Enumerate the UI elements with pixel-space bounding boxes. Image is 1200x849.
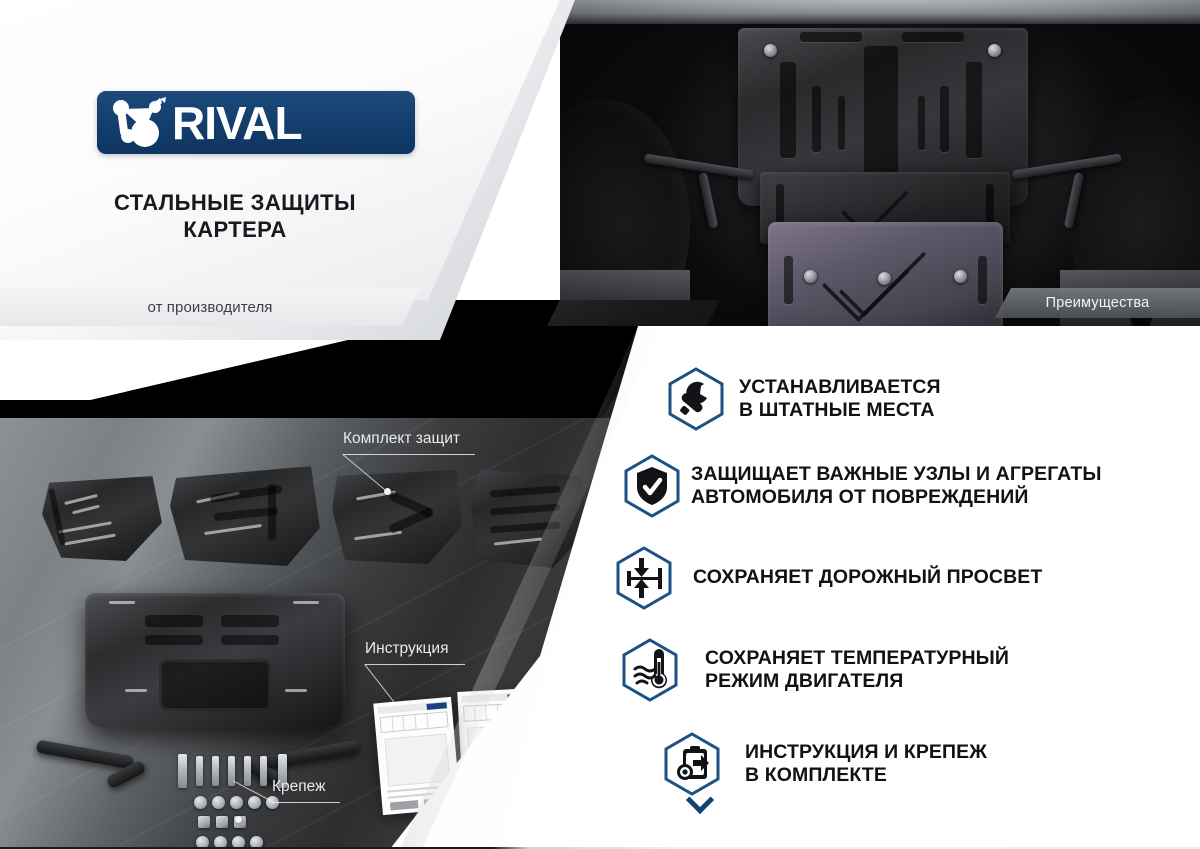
bracket-left (36, 740, 135, 770)
ground-clearance-icon (615, 546, 673, 610)
advantage-install-line1: УСТАНАВЛИВАЕТСЯ (739, 376, 941, 399)
main-engine-skid-plate (85, 593, 345, 728)
hardware-bolt-2 (212, 756, 219, 786)
callout-hardware-rule (272, 802, 340, 803)
advantage-text-install: УСТАНАВЛИВАЕТСЯ В ШТАТНЫЕ МЕСТА (739, 376, 941, 423)
skid-plate-1 (42, 476, 162, 561)
advantage-item-protect: ЗАЩИЩАЕТ ВАЖНЫЕ УЗЛЫ И АГРЕГАТЫ АВТОМОБИ… (623, 438, 1200, 534)
callout-manual-leader (364, 664, 394, 702)
advantage-item-install: УСТАНАВЛИВАЕТСЯ В ШТАТНЫЕ МЕСТА (667, 360, 1200, 438)
callout-kit-dot (384, 488, 391, 495)
advantage-manual-line1: ИНСТРУКЦИЯ И КРЕПЕЖ (745, 741, 987, 764)
tagline-bar: от производителя (0, 288, 420, 326)
page-title-line1: СТАЛЬНЫЕ ЗАЩИТЫ (0, 190, 470, 217)
hardware-spacer-left (178, 754, 187, 788)
hardware-washer-1 (194, 796, 207, 809)
callout-hardware-dot (235, 816, 242, 823)
callout-hardware-label: Крепеж (272, 778, 325, 796)
advantage-item-clearance: СОХРАНЯЕТ ДОРОЖНЫЙ ПРОСВЕТ (615, 534, 1200, 622)
advantage-protect-line1: ЗАЩИЩАЕТ ВАЖНЫЕ УЗЛЫ И АГРЕГАТЫ (691, 463, 1102, 486)
wrench-icon (667, 367, 725, 431)
callout-kit-rule (343, 454, 475, 455)
advantage-item-temperature: СОХРАНЯЕТ ТЕМПЕРАТУРНЫЙ РЕЖИМ ДВИГАТЕЛЯ (621, 622, 1200, 718)
dark-band-lower (0, 326, 660, 421)
advantages-list: УСТАНАВЛИВАЕТСЯ В ШТАТНЫЕ МЕСТА ЗАЩИЩАЕТ… (615, 360, 1200, 810)
advantage-temperature-line2: РЕЖИМ ДВИГАТЕЛЯ (705, 670, 1009, 693)
hardware-bolt-1 (196, 756, 203, 786)
hardware-nut-2 (216, 816, 228, 828)
hardware-washer-3 (230, 796, 243, 809)
advantage-text-protect: ЗАЩИЩАЕТ ВАЖНЫЕ УЗЛЫ И АГРЕГАТЫ АВТОМОБИ… (691, 463, 1102, 510)
advantage-text-clearance: СОХРАНЯЕТ ДОРОЖНЫЙ ПРОСВЕТ (693, 566, 1042, 589)
poster-root: Преимущества (0, 0, 1200, 849)
shield-check-icon (623, 454, 681, 518)
hardware-bolt-5 (260, 756, 267, 786)
callout-manual-rule (365, 664, 465, 665)
advantages-ribbon: Преимущества (995, 288, 1200, 318)
advantage-text-manual: ИНСТРУКЦИЯ И КРЕПЕЖ В КОМПЛЕКТЕ (745, 741, 987, 788)
page-title-line2: КАРТЕРА (0, 217, 470, 244)
thermometer-icon (621, 638, 679, 702)
advantage-temperature-line1: СОХРАНЯЕТ ТЕМПЕРАТУРНЫЙ (705, 647, 1009, 670)
callout-kit-label: Комплект защит (343, 430, 460, 448)
rival-molecule-icon (108, 96, 174, 150)
rival-logo[interactable]: RIVAL (97, 91, 415, 154)
manual-and-hardware-icon (663, 732, 721, 796)
advantage-install-line2: В ШТАТНЫЕ МЕСТА (739, 399, 941, 422)
advantage-manual-line2: В КОМПЛЕКТЕ (745, 764, 987, 787)
advantage-item-manual: ИНСТРУКЦИЯ И КРЕПЕЖ В КОМПЛЕКТЕ (663, 718, 1200, 810)
advantage-text-temperature: СОХРАНЯЕТ ТЕМПЕРАТУРНЫЙ РЕЖИМ ДВИГАТЕЛЯ (705, 647, 1009, 694)
skid-plate-2 (170, 466, 320, 566)
rival-logo-wordmark: RIVAL (172, 100, 302, 146)
page-title: СТАЛЬНЫЕ ЗАЩИТЫ КАРТЕРА (0, 190, 470, 244)
hardware-nut-1 (198, 816, 210, 828)
skid-plate-3 (332, 468, 462, 564)
advantage-protect-line2: АВТОМОБИЛЯ ОТ ПОВРЕЖДЕНИЙ (691, 486, 1102, 509)
hardware-bolt-4 (244, 756, 251, 786)
advantages-ribbon-label: Преимущества (1046, 295, 1150, 311)
tagline-text: от производителя (147, 299, 272, 316)
callout-manual-label: Инструкция (365, 640, 448, 658)
hardware-washer-2 (212, 796, 225, 809)
hardware-washer-4 (248, 796, 261, 809)
advantage-clearance-line1: СОХРАНЯЕТ ДОРОЖНЫЙ ПРОСВЕТ (693, 566, 1042, 589)
